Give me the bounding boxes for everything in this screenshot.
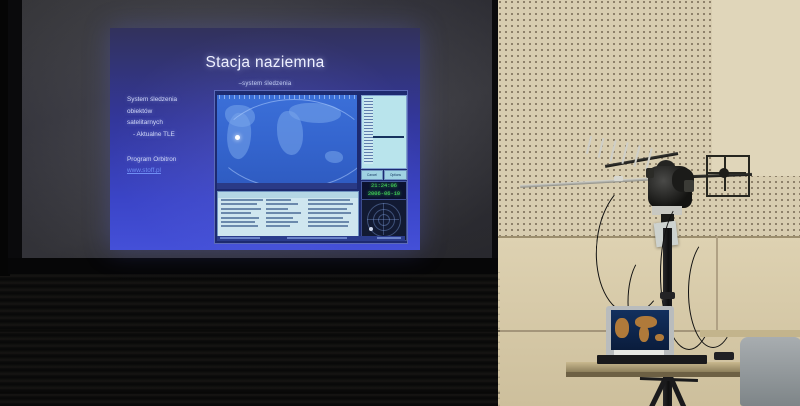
program-label: Program Orbitron (127, 154, 227, 165)
clock-time: 21:24:06 (362, 183, 406, 189)
satellite-marker (235, 135, 240, 140)
elevation-indicator (373, 136, 404, 138)
screen-bottom-bar (8, 258, 498, 274)
monitor-map-land-3 (639, 326, 649, 342)
slide-bullet-list: System śledzenia obiektów satelitarnych … (127, 94, 217, 140)
boom-tip-cap (614, 176, 623, 181)
wood-panel-lower (0, 272, 500, 406)
slide-title: Stacja naziemna (110, 54, 420, 72)
table-column-mid (266, 199, 302, 230)
desk-edge (566, 372, 766, 377)
wall-plain-right (712, 0, 800, 176)
mast-collar (660, 292, 675, 299)
orbitron-clock: 21:24:06 2006-06-10 (361, 181, 407, 200)
orbitron-window: Cancel Options 21:24:06 2006-06-10 (214, 90, 408, 244)
table-column-left (221, 199, 263, 230)
status-seg-3 (377, 237, 401, 239)
table-column-right (308, 199, 354, 230)
orbitron-data-table (217, 191, 359, 237)
side-table (700, 330, 800, 337)
monitor-map-land-1 (615, 318, 629, 338)
wood-seam-2 (0, 392, 500, 394)
clock-date: 2006-06-10 (362, 191, 406, 197)
program-block: Program Orbitron www.stoff.pl (127, 154, 227, 176)
radar-ring-inner (378, 214, 390, 226)
status-seg-1 (220, 237, 260, 239)
orbitron-world-map (217, 95, 357, 183)
radar-axis-v (383, 203, 384, 235)
status-seg-2 (287, 237, 347, 239)
keyboard[interactable] (597, 355, 707, 364)
boom-clamp (646, 168, 654, 178)
radar-legend-dot (369, 227, 373, 231)
orbitron-side-panel (361, 95, 407, 169)
table-header (218, 192, 358, 198)
reflector-hub (719, 168, 729, 178)
chair (740, 337, 800, 406)
orbitron-button-cancel[interactable]: Cancel (361, 170, 383, 180)
map-longitude-ruler (219, 95, 357, 99)
orbitron-button-options[interactable]: Options (384, 170, 407, 180)
slide-bullet-2: satelitarnych (127, 117, 217, 129)
slide-bullet-3: - Aktualne TLE (127, 129, 217, 141)
elevation-scale (364, 98, 373, 164)
orbitron-radar-plot (361, 199, 407, 241)
desk-device-3 (714, 352, 734, 360)
slide-subtitle: –system śledzenia (110, 81, 420, 87)
slide-bullet-0: System śledzenia (127, 94, 217, 106)
orbitron-status-bar (217, 236, 405, 241)
wood-seam-1 (0, 330, 500, 332)
slide-bullet-1: obiektów (127, 106, 217, 118)
monitor-screen (611, 310, 669, 350)
presentation-slide: Stacja naziemna –system śledzenia System… (110, 28, 420, 250)
map-footer-bar (217, 183, 357, 189)
rotator-connector (684, 180, 694, 192)
monitor-map-land-4 (655, 334, 664, 341)
program-url-link[interactable]: www.stoff.pl (127, 165, 227, 176)
photo-scene: Stacja naziemna –system śledzenia System… (0, 0, 800, 406)
